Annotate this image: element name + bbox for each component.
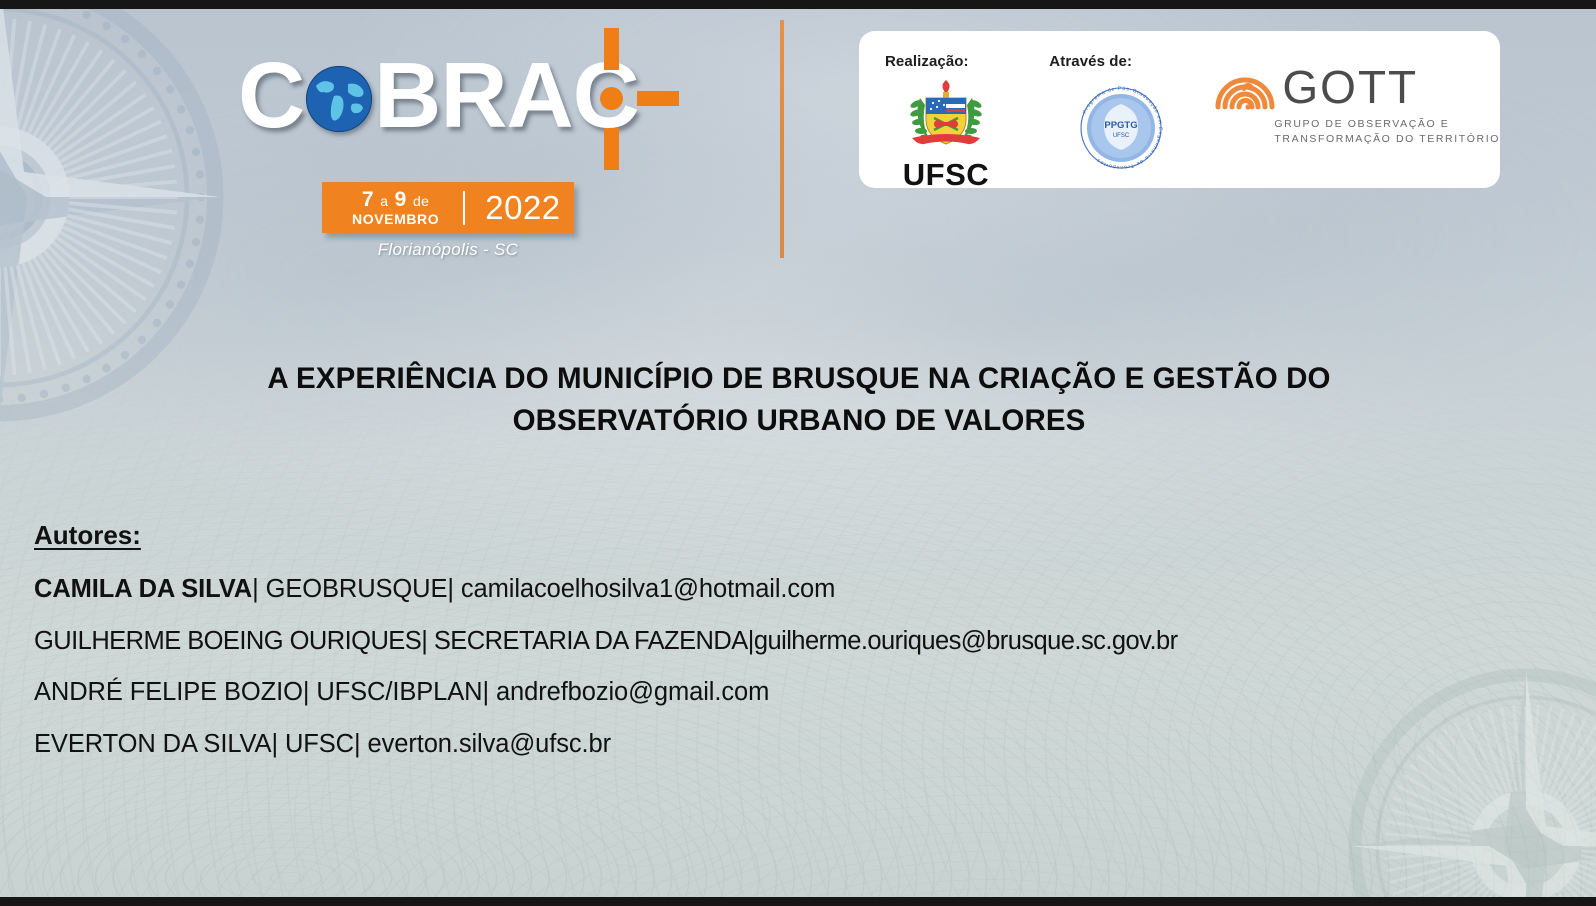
page-title: A EXPERIÊNCIA DO MUNICÍPIO DE BRUSQUE NA…: [60, 358, 1538, 442]
globe-icon: [306, 66, 372, 132]
event-date-left: 7 a 9 de NOVEMBRO: [322, 189, 439, 226]
sponsor-realizacao: Realização:: [859, 31, 1031, 210]
vertical-divider: [780, 20, 784, 258]
gott-row: GOTT: [1214, 61, 1500, 113]
author-line: EVERTON DA SILVA| UFSC| everton.silva@uf…: [34, 732, 1576, 758]
gott-tagline: GRUPO DE OBSERVAÇÃO E TRANSFORMAÇÃO DO T…: [1274, 117, 1500, 147]
ppgtg-acronym: PPGTG: [1105, 120, 1138, 131]
ppgtg-logo: Programa de Pós-Graduação em Engenharia …: [1049, 80, 1210, 181]
event-days: 7 a 9 de: [352, 189, 439, 210]
author-line: GUILHERME BOEING OURIQUES| SECRETARIA DA…: [34, 629, 1576, 655]
sponsor-gott: GOTT GRUPO DE OBSERVAÇÃO E TRANSFORMAÇÃO…: [1210, 31, 1500, 218]
author-name: CAMILA DA SILVA: [34, 575, 252, 603]
sponsor-panel: Realização:: [859, 31, 1500, 188]
presentation-slide: C BRAC: [0, 0, 1596, 906]
gott-arcs-icon: [1214, 61, 1276, 113]
cobrac-wordmark: C BRAC: [238, 36, 698, 154]
author-affiliation: | UFSC|: [271, 730, 367, 758]
cobrac-wordmark-text: C BRAC: [238, 49, 639, 142]
author-line: CAMILA DA SILVA| GEOBRUSQUE| camilacoelh…: [34, 577, 1576, 603]
author-name: ANDRÉ FELIPE BOZIO: [34, 678, 303, 706]
register-cross-mark-icon: [590, 28, 702, 170]
cobrac-logo: C BRAC: [238, 36, 698, 154]
event-year: 2022: [485, 191, 560, 224]
ufsc-wordmark: UFSC: [885, 157, 1007, 193]
sponsor-atraves: Através de: Programa de Pós-Graduação em…: [1031, 31, 1210, 210]
author-email: guilherme.ouriques@brusque.sc.gov.br: [754, 627, 1178, 655]
author-name: EVERTON DA SILVA: [34, 730, 271, 758]
letterbox-bar-bottom: [0, 897, 1596, 906]
authors-heading: Autores:: [34, 520, 1576, 551]
cobrac-letter-c: C: [238, 49, 304, 142]
author-affiliation: | GEOBRUSQUE|: [252, 575, 461, 603]
realizacao-label: Realização:: [885, 53, 1031, 70]
authors-list: CAMILA DA SILVA| GEOBRUSQUE| camilacoelh…: [34, 577, 1576, 757]
author-email: everton.silva@ufsc.br: [368, 730, 611, 758]
author-affiliation: | UFSC/IBPLAN|: [303, 678, 496, 706]
ppgtg-seal-icon: Programa de Pós-Graduação em Engenharia …: [1073, 80, 1169, 176]
letterbox-bar-top: [0, 0, 1596, 9]
ppgtg-institution: UFSC: [1113, 133, 1130, 139]
event-city: Florianópolis - SC: [322, 240, 574, 260]
authors-section: Autores: CAMILA DA SILVA| GEOBRUSQUE| ca…: [34, 520, 1576, 783]
title-line-1: A EXPERIÊNCIA DO MUNICÍPIO DE BRUSQUE NA…: [60, 358, 1538, 400]
gott-tagline-line2: TRANSFORMAÇÃO DO TERRITÓRIO: [1274, 132, 1500, 147]
author-email: andrefbozio@gmail.com: [496, 678, 769, 706]
author-line: ANDRÉ FELIPE BOZIO| UFSC/IBPLAN| andrefb…: [34, 680, 1576, 706]
date-separator: [463, 191, 465, 225]
gott-tagline-line1: GRUPO DE OBSERVAÇÃO E: [1274, 117, 1500, 132]
event-month: NOVEMBRO: [352, 212, 439, 226]
author-name: GUILHERME BOEING OURIQUES: [34, 627, 421, 655]
author-affiliation: | SECRETARIA DA FAZENDA|: [421, 627, 754, 655]
title-line-2: OBSERVATÓRIO URBANO DE VALORES: [60, 400, 1538, 442]
event-date-badge: 7 a 9 de NOVEMBRO 2022: [322, 182, 574, 233]
gott-wordmark: GOTT: [1282, 64, 1418, 110]
ufsc-logo: UFSC: [885, 78, 1007, 193]
atraves-label: Através de:: [1049, 53, 1210, 70]
ufsc-coat-of-arms-icon: [906, 78, 986, 154]
author-email: camilacoelhosilva1@hotmail.com: [461, 575, 835, 603]
